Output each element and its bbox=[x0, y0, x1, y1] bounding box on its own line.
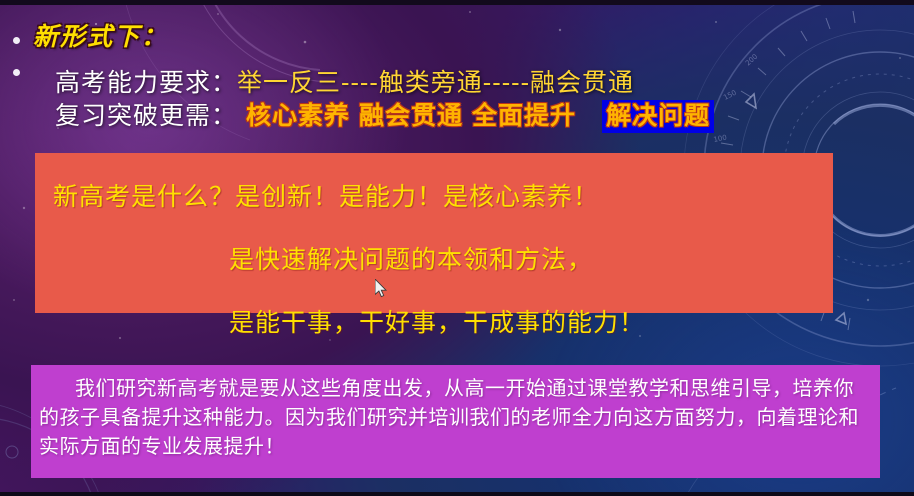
ability-requirement-line: 高考能力要求：举一反三----触类旁通-----融会贯通 bbox=[55, 63, 634, 99]
red-callout-line-2: 是快速解决问题的本领和方法， bbox=[229, 240, 833, 276]
keyword-integration: 融会贯通 bbox=[359, 101, 463, 130]
red-callout-box: 新高考是什么？是创新！是能力！是核心素养！ 是快速解决问题的本领和方法， 是能干… bbox=[35, 153, 833, 313]
red-callout-line-1: 新高考是什么？是创新！是能力！是核心素养！ bbox=[53, 177, 833, 213]
bullet-dot-1 bbox=[13, 37, 20, 44]
paragraph-text: 我们研究新高考就是要从这些角度出发，从高一开始通过课堂教学和思维引导，培养你的孩… bbox=[39, 374, 872, 461]
ability-requirement-label: 高考能力要求： bbox=[55, 68, 237, 97]
red-callout-line-3: 是能干事，干好事，干成事的能力！ bbox=[229, 303, 833, 339]
review-breakthrough-label: 复习突破更需： bbox=[55, 101, 237, 130]
keyword-overall-improvement: 全面提升 bbox=[472, 101, 576, 130]
keyword-problem-solving-highlighted: 解决问题 bbox=[602, 100, 714, 133]
top-letterbox-bar bbox=[0, 0, 914, 5]
bullet-dot-2 bbox=[13, 69, 20, 76]
bottom-letterbox-bar bbox=[0, 492, 914, 496]
keyword-core-literacy: 核心素养 bbox=[246, 101, 350, 130]
ability-requirement-value: 举一反三----触类旁通-----融会贯通 bbox=[237, 68, 634, 97]
review-breakthrough-line: 复习突破更需：核心素养融会贯通全面提升解决问题 bbox=[55, 96, 714, 132]
presentation-slide: 200 150 100 50 0 20 bbox=[0, 0, 914, 496]
slide-title: 新形式下： bbox=[33, 17, 168, 53]
magenta-paragraph-box: 我们研究新高考就是要从这些角度出发，从高一开始通过课堂教学和思维引导，培养你的孩… bbox=[31, 365, 880, 478]
